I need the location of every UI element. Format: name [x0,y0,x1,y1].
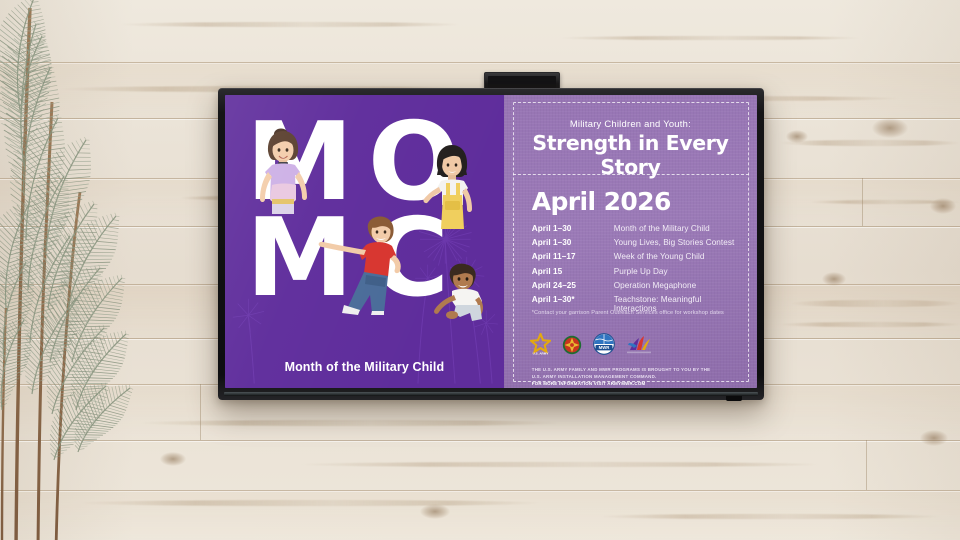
momc-lockup: M O M C [225,109,504,388]
event-name: Month of the Military Child [614,224,710,233]
tv-screen: M O M C [225,95,757,388]
month-heading: April 2026 [532,187,671,216]
footnote: *Contact your garrison Parent Outreach S… [532,310,743,316]
tv-indicator-led [726,396,742,401]
header-subtitle: Military Children and Youth: [504,118,757,129]
event-row: April 1–30 Month of the Military Child [532,224,743,233]
scene-root: M O M C [0,0,960,540]
family-programs-logo [626,334,652,355]
tv-bottom-lip [224,392,758,396]
legal-text: THE U.S. ARMY FAMILY AND MWR PROGRAMS IS… [532,367,743,387]
momc-caption: Month of the Military Child [225,360,504,374]
mwr-logo-label: MWR [598,345,610,350]
legal-line-2: U.S. ARMY INSTALLATION MANAGEMENT COMMAN… [532,374,743,381]
legal-line-3: FOR MORE INFORMATION VISIT ARMYMWR.COM [532,381,743,388]
event-row: April 1–30 Young Lives, Big Stories Cont… [532,238,743,247]
us-army-logo-label: U.S. ARMY [532,351,549,355]
event-date: April 1–30 [532,238,614,247]
decorative-plant [0,0,140,540]
partner-logos: U.S. ARMY [530,333,652,355]
wall-mounted-tv[interactable]: M O M C [218,88,764,400]
event-list: April 1–30 Month of the Military Child A… [532,224,743,318]
army-mwr-logo: MWR [593,333,615,355]
kid-teen-girl-purple-shirt [250,125,316,225]
kid-toddler-white-shirt [426,261,494,323]
legal-line-1: THE U.S. ARMY FAMILY AND MWR PROGRAMS IS… [532,367,743,374]
army-medallion-logo [562,335,582,355]
event-date: April 24–25 [532,281,614,290]
event-row: April 11–17 Week of the Young Child [532,252,743,261]
event-name: Young Lives, Big Stories Contest [614,238,735,247]
event-date: April 15 [532,267,614,276]
momc-letters: M O M C [246,121,487,313]
event-row: April 24–25 Operation Megaphone [532,281,743,290]
event-name: Operation Megaphone [614,281,696,290]
event-row: April 15 Purple Up Day [532,267,743,276]
us-army-star-logo: U.S. ARMY [530,333,551,355]
kid-boy-red-shirt [314,215,424,315]
event-name: Week of the Young Child [614,252,705,261]
event-date: April 1–30 [532,224,614,233]
momc-logo-panel: M O M C [225,95,504,388]
event-info-panel: Military Children and Youth: Strength in… [504,95,757,388]
event-name: Purple Up Day [614,267,668,276]
header-title: Strength in Every Story [504,131,757,179]
event-date: April 11–17 [532,252,614,261]
kid-girl-yellow-overalls [418,139,484,235]
